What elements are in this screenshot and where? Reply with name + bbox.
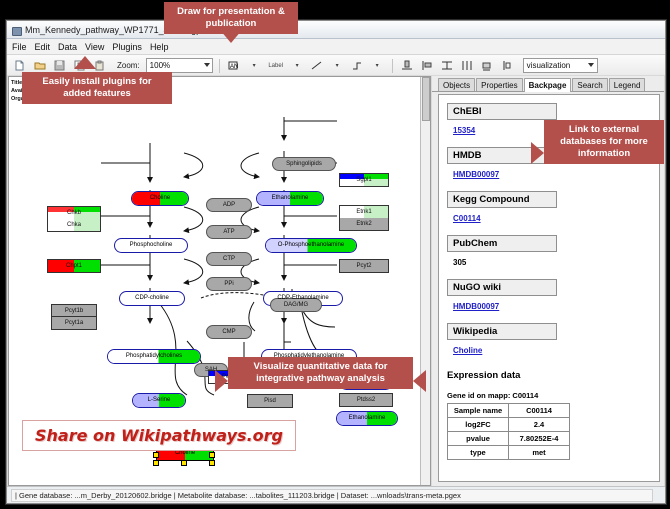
- selection-handle-w[interactable]: [153, 452, 159, 458]
- expr-val-type: met: [509, 446, 570, 460]
- node-ppi[interactable]: PPi: [206, 277, 252, 291]
- menu-item-edit[interactable]: Edit: [35, 42, 51, 52]
- db-header-pubchem: PubChem: [447, 235, 557, 252]
- scrollbar-thumb[interactable]: [422, 77, 430, 121]
- node-phosphocholine[interactable]: Phosphocholine: [114, 238, 188, 253]
- line-icon[interactable]: [309, 57, 326, 74]
- expr-key-sample-name: Sample name: [448, 404, 509, 418]
- node-sphingolipids[interactable]: Sphingolipids: [272, 157, 336, 171]
- expr-key-type: type: [448, 446, 509, 460]
- expr-val-pvalue: 7.80252E-4: [509, 432, 570, 446]
- gene-box-pcyt1a[interactable]: Pcyt1a: [51, 316, 97, 330]
- db-link-hmdb[interactable]: HMDB00097: [453, 170, 499, 179]
- tab-properties[interactable]: Properties: [476, 78, 522, 91]
- distribute-vertical-icon[interactable]: [439, 57, 456, 74]
- toolbar-separator-2: [392, 59, 393, 73]
- gene-id-label: Gene id on mapp: C00114: [447, 391, 651, 400]
- status-bar-text: | Gene database: ...m_Derby_20120602.bri…: [11, 489, 653, 502]
- expression-table: Sample name C00114 log2FC 2.4 pvalue 7.8…: [447, 403, 570, 460]
- side-pane-tabs: Objects Properties Backpage Search Legen…: [432, 76, 664, 92]
- db-header-kegg-compound: Kegg Compound: [447, 191, 557, 208]
- label-icon[interactable]: Label: [266, 57, 286, 74]
- gene-box-sgpl1[interactable]: Sgpl1: [339, 173, 389, 187]
- node-ctp[interactable]: CTP: [206, 252, 252, 266]
- db-link-kegg[interactable]: C00114: [453, 214, 481, 223]
- chevron-down-icon[interactable]: [204, 63, 210, 67]
- node-adp[interactable]: ADP: [206, 198, 252, 212]
- db-header-wikipedia: Wikipedia: [447, 323, 557, 340]
- db-link-nugo[interactable]: HMDB00097: [453, 302, 499, 311]
- gene-box-etnk2[interactable]: Etnk2: [339, 217, 389, 231]
- callout-share-on-wikipathways: Share on Wikipathways.org: [22, 420, 296, 451]
- align-bottom-icon[interactable]: [399, 57, 416, 74]
- align-left-icon[interactable]: [419, 57, 436, 74]
- datanode-icon[interactable]: AN: [226, 57, 243, 74]
- menu-item-file[interactable]: File: [12, 42, 27, 52]
- table-row: type met: [448, 446, 570, 460]
- gene-box-chpt1[interactable]: Chpt1: [47, 259, 101, 273]
- callout-links-arrow-icon: [531, 142, 544, 164]
- node-atp[interactable]: ATP: [206, 225, 252, 239]
- chevron-down-icon-2[interactable]: [588, 63, 594, 67]
- distribute-horizontal-icon[interactable]: [459, 57, 476, 74]
- screenshot-root: Mm_Kennedy_pathway_WP1771_45176.gpml Fil…: [0, 0, 670, 509]
- gene-box-ptdss2[interactable]: Ptdss2: [339, 393, 393, 407]
- app-icon: [11, 25, 21, 35]
- zoom-label: Zoom:: [117, 61, 140, 70]
- expr-key-pvalue: pvalue: [448, 432, 509, 446]
- expression-data-title: Expression data: [447, 370, 651, 381]
- visualization-combo[interactable]: visualization: [523, 58, 598, 73]
- db-value-pubchem: 305: [453, 258, 466, 267]
- toolbar-separator: [219, 59, 220, 73]
- node-l-serine-left[interactable]: L-Serine: [132, 393, 186, 408]
- menu-item-data[interactable]: Data: [58, 42, 77, 52]
- db-header-nugo-wiki: NuGO wiki: [447, 279, 557, 296]
- visualization-value: visualization: [527, 61, 571, 70]
- gene-box-chkb[interactable]: Chkb: [47, 206, 101, 220]
- selection-handle-s[interactable]: [181, 460, 187, 466]
- callout-visualize-arrow-left-icon: [215, 370, 228, 392]
- node-choline[interactable]: Choline: [131, 191, 189, 206]
- callout-visualize-arrow-right-icon: [413, 370, 426, 392]
- db-header-chebi: ChEBI: [447, 103, 557, 120]
- zoom-value: 100%: [150, 61, 170, 70]
- zoom-combo[interactable]: 100%: [146, 58, 213, 73]
- node-ethanolamine-right[interactable]: Ethanolamine: [336, 411, 398, 426]
- gene-box-pisd[interactable]: Pisd: [247, 394, 293, 408]
- status-bar: | Gene database: ...m_Derby_20120602.bri…: [7, 486, 665, 503]
- menu-bar: File Edit Data View Plugins Help: [7, 39, 665, 55]
- menu-item-help[interactable]: Help: [150, 42, 169, 52]
- node-cmp[interactable]: CMP: [206, 325, 252, 339]
- stack-icon[interactable]: [479, 57, 496, 74]
- table-row: pvalue 7.80252E-4: [448, 432, 570, 446]
- expr-val-sample-name: C00114: [509, 404, 570, 418]
- label-dropdown-icon[interactable]: ▾: [289, 57, 306, 74]
- svg-text:AN: AN: [230, 64, 238, 70]
- connector-dropdown-icon[interactable]: ▾: [369, 57, 386, 74]
- node-phosphatidylcholines[interactable]: Phosphatidylcholines: [107, 349, 201, 364]
- gene-box-chka[interactable]: Chka: [47, 218, 101, 232]
- title-bar: Mm_Kennedy_pathway_WP1771_45176.gpml: [7, 21, 665, 39]
- group-icon[interactable]: [499, 57, 516, 74]
- expr-key-log2fc: log2FC: [448, 418, 509, 432]
- callout-easily-install-plugins: Easily install plugins for added feature…: [22, 72, 172, 104]
- callout-visualize-quantitative: Visualize quantitative data for integrat…: [228, 357, 413, 389]
- tab-objects[interactable]: Objects: [438, 78, 475, 91]
- gene-box-pcyt2[interactable]: Pcyt2: [339, 259, 389, 273]
- node-ethanolamine[interactable]: Ethanolamine: [256, 191, 324, 206]
- selection-handle-sw[interactable]: [153, 460, 159, 466]
- line-dropdown-icon[interactable]: ▾: [329, 57, 346, 74]
- table-row: log2FC 2.4: [448, 418, 570, 432]
- datanode-dropdown-icon[interactable]: ▾: [246, 57, 263, 74]
- menu-item-view[interactable]: View: [85, 42, 104, 52]
- node-o-phosphoethanolamine[interactable]: O-Phosphoethanolamine: [265, 238, 357, 253]
- callout-draw-arrow-icon: [220, 30, 242, 43]
- expr-val-log2fc: 2.4: [509, 418, 570, 432]
- tab-legend[interactable]: Legend: [609, 78, 646, 91]
- callout-plugins-arrow-icon: [74, 56, 96, 69]
- table-row: Sample name C00114: [448, 404, 570, 418]
- node-cdp-choline[interactable]: CDP-choline: [119, 291, 185, 306]
- tab-search[interactable]: Search: [572, 78, 607, 91]
- selection-handle-se[interactable]: [209, 460, 215, 466]
- canvas-scrollbar[interactable]: [420, 77, 430, 485]
- menu-item-plugins[interactable]: Plugins: [112, 42, 142, 52]
- tab-backpage[interactable]: Backpage: [524, 78, 572, 92]
- gene-box-etnk1[interactable]: Etnk1: [339, 205, 389, 219]
- db-link-wikipedia[interactable]: Choline: [453, 346, 482, 355]
- connector-icon[interactable]: [349, 57, 366, 74]
- selection-handle-e[interactable]: [209, 452, 215, 458]
- db-link-chebi[interactable]: 15354: [453, 126, 475, 135]
- callout-link-external-databases: Link to external databases for more info…: [544, 120, 664, 164]
